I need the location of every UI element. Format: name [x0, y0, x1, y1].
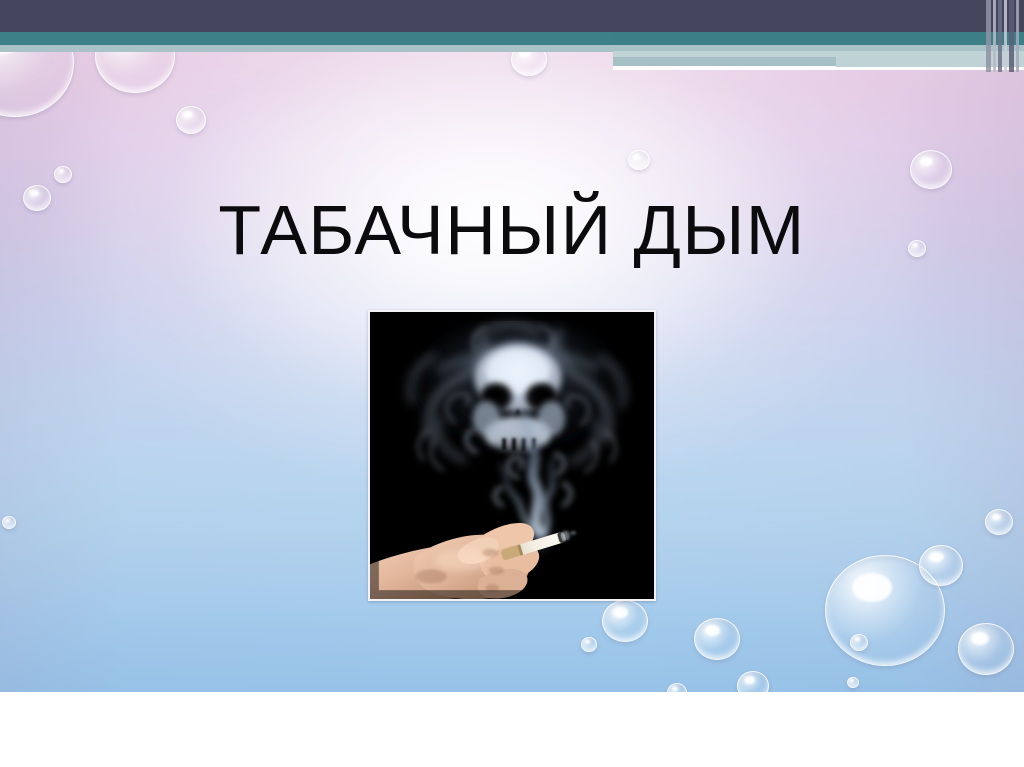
page-footer-whitespace — [0, 692, 1024, 767]
header-navy-band — [0, 0, 1024, 32]
slide-image-frame — [368, 310, 656, 601]
slide-canvas: ТАБАЧНЫЙ ДЫМ — [0, 0, 1024, 692]
presentation-slide-root: ТАБАЧНЫЙ ДЫМ — [0, 0, 1024, 767]
slide-title: ТАБАЧНЫЙ ДЫМ — [0, 188, 1024, 272]
smoking-hand-skull-smoke-image — [370, 312, 654, 599]
header-pale-step-3 — [836, 57, 1024, 67]
